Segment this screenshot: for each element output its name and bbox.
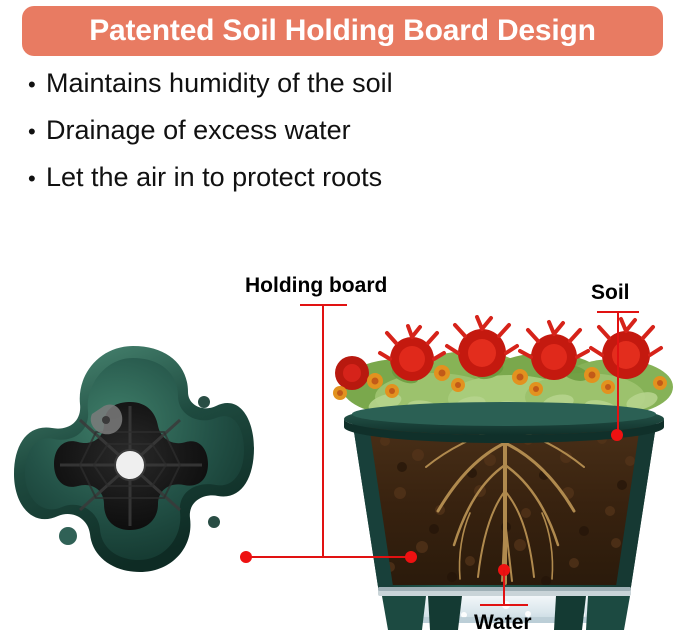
leader-dot-board-right xyxy=(405,551,417,563)
leader-line-holding-board-horizontal xyxy=(250,556,412,558)
feature-list: • Maintains humidity of the soil • Drain… xyxy=(28,70,588,211)
list-item: • Drainage of excess water xyxy=(28,117,588,164)
leader-line-water-vertical xyxy=(503,570,505,605)
pot-foot-left xyxy=(382,596,426,630)
leader-line-water-tbar xyxy=(480,604,528,606)
leader-dot-soil xyxy=(611,429,623,441)
pot-rim-inner xyxy=(352,402,656,426)
banner-title: Patented Soil Holding Board Design xyxy=(89,16,596,46)
leader-line-holding-board-vertical xyxy=(322,304,324,557)
pot-foot-right-inner xyxy=(554,596,586,630)
board-peg xyxy=(198,396,210,408)
pot-foot-left-inner xyxy=(428,596,462,630)
bullet-icon: • xyxy=(28,74,46,96)
callout-label-soil: Soil xyxy=(591,282,630,303)
board-peg xyxy=(208,516,220,528)
infographic-page: Patented Soil Holding Board Design • Mai… xyxy=(0,0,679,638)
leader-line-soil-vertical xyxy=(617,311,619,435)
feature-text: Let the air in to protect roots xyxy=(46,164,382,191)
bullet-icon: • xyxy=(28,168,46,190)
product-diagram: Holding board Soil Water xyxy=(0,255,679,638)
pot-foot-right xyxy=(586,596,630,630)
board-peg xyxy=(59,527,77,545)
callout-label-holding-board: Holding board xyxy=(245,275,387,296)
header-banner: Patented Soil Holding Board Design xyxy=(22,6,663,56)
board-clip-pin xyxy=(102,416,110,424)
list-item: • Let the air in to protect roots xyxy=(28,164,588,211)
leader-dot-board-left xyxy=(240,551,252,563)
feature-text: Maintains humidity of the soil xyxy=(46,70,393,97)
bullet-icon: • xyxy=(28,121,46,143)
list-item: • Maintains humidity of the soil xyxy=(28,70,588,117)
feature-text: Drainage of excess water xyxy=(46,117,351,144)
callout-label-water: Water xyxy=(474,612,532,633)
soil-holding-board-image xyxy=(8,340,258,610)
